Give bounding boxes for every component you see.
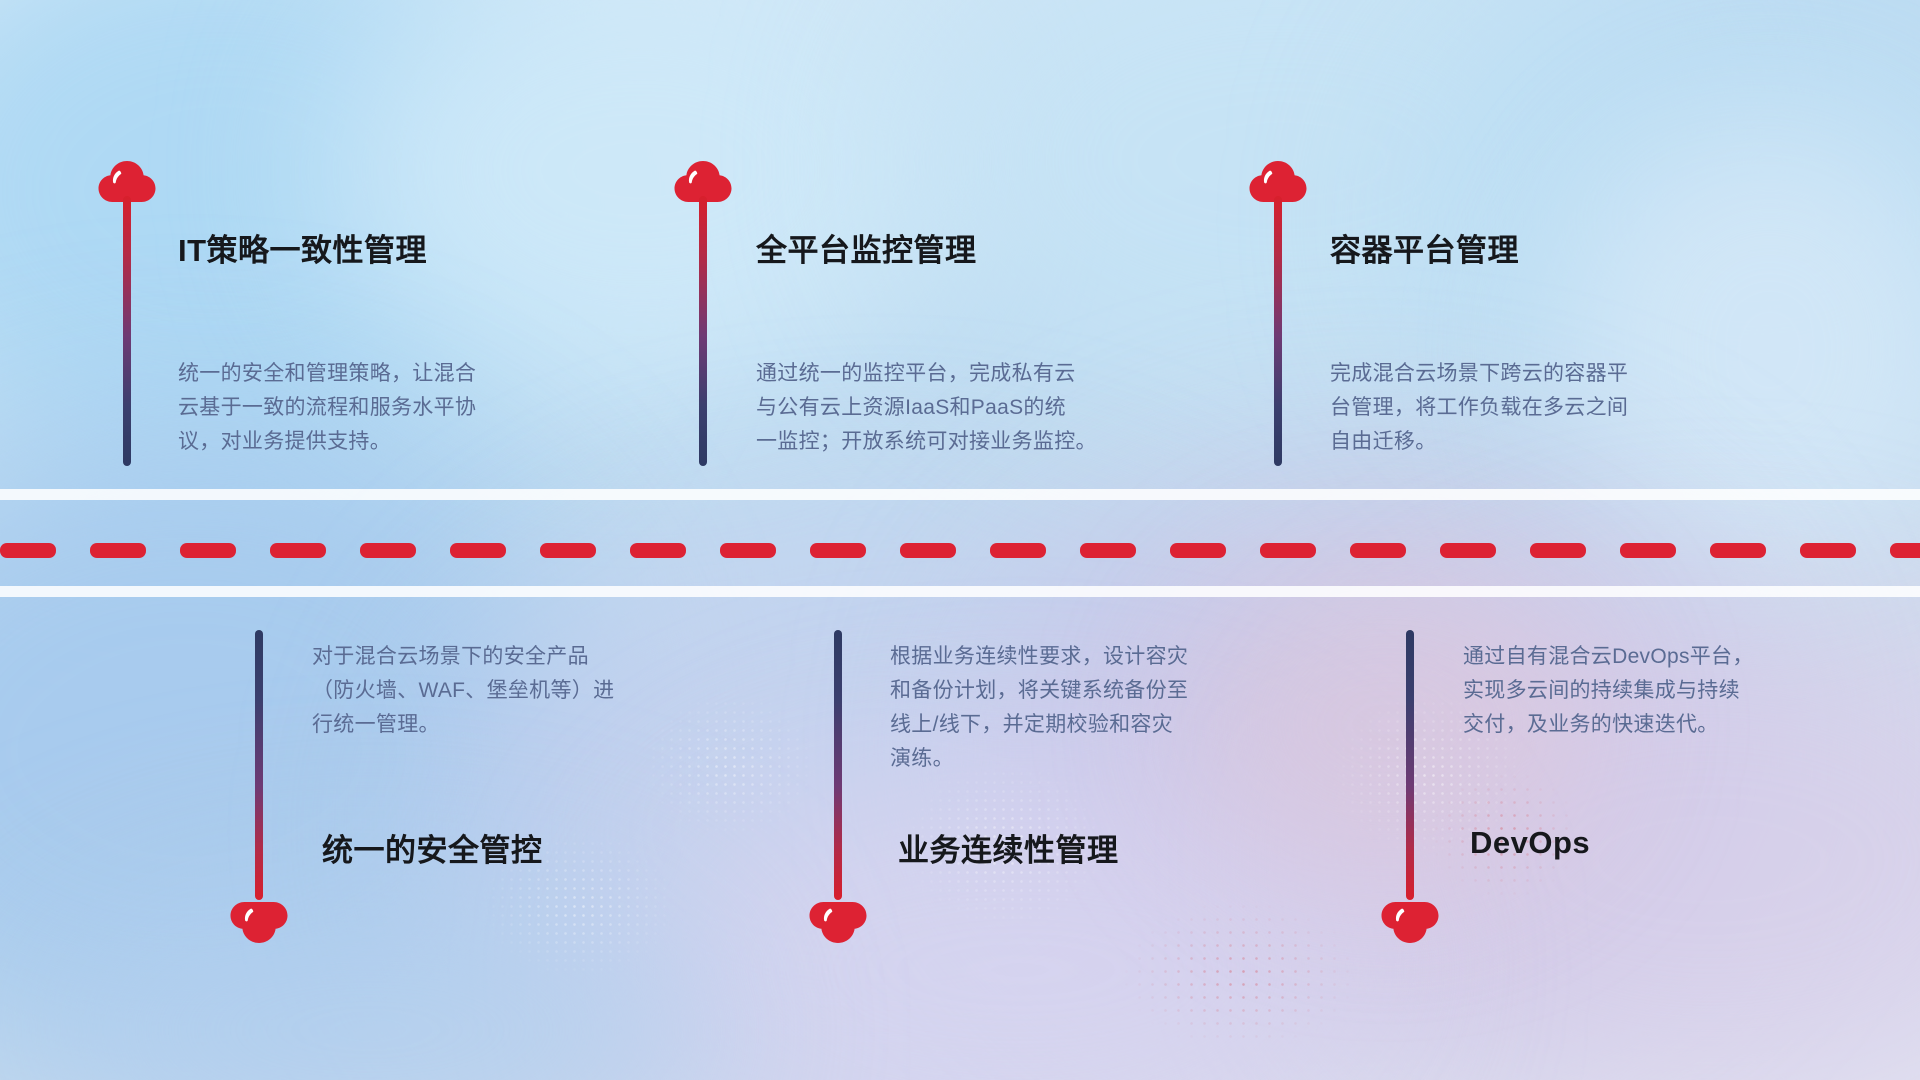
body-text: 通过自有混合云DevOps平台， 实现多云间的持续集成与持续 交付，及业务的快速… xyxy=(1463,640,1903,742)
cloud-pin-flipped-icon xyxy=(228,898,290,944)
dash-segment xyxy=(1800,543,1856,558)
dash-segment xyxy=(90,543,146,558)
dash-segment xyxy=(270,543,326,558)
dash-segment xyxy=(1260,543,1316,558)
card-body-top-2: 完成混合云场景下跨云的容器平 台管理，将工作负载在多云之间 自由迁移。 xyxy=(1330,357,1770,459)
card-body-bottom-0: 对于混合云场景下的安全产品 （防火墙、WAF、堡垒机等）进 行统一管理。 xyxy=(312,640,752,742)
body-text: 完成混合云场景下跨云的容器平 台管理，将工作负载在多云之间 自由迁移。 xyxy=(1330,357,1770,459)
body-text: 统一的安全和管理策略，让混合 云基于一致的流程和服务水平协 议，对业务提供支持。 xyxy=(178,357,618,459)
dash-segment xyxy=(1350,543,1406,558)
infographic-canvas: IT策略一致性管理 统一的安全和管理策略，让混合 云基于一致的流程和服务水平协 … xyxy=(0,0,1920,1080)
title-text: DevOps xyxy=(1470,825,1590,861)
card-body-top-0: 统一的安全和管理策略，让混合 云基于一致的流程和服务水平协 议，对业务提供支持。 xyxy=(178,357,618,459)
divider-bar-top xyxy=(0,489,1920,500)
dash-segment xyxy=(180,543,236,558)
card-title-top-1: 全平台监控管理 xyxy=(756,225,977,270)
dash-segment xyxy=(810,543,866,558)
body-text: 根据业务连续性要求，设计容灾 和备份计划，将关键系统备份至 线上/线下，并定期校… xyxy=(890,640,1350,776)
cloud-pin-flipped-icon xyxy=(807,898,869,944)
dash-segment xyxy=(1440,543,1496,558)
body-text: 对于混合云场景下的安全产品 （防火墙、WAF、堡垒机等）进 行统一管理。 xyxy=(312,640,752,742)
divider-bar-bottom xyxy=(0,586,1920,597)
dash-segment xyxy=(360,543,416,558)
connector-line xyxy=(1274,196,1282,466)
dash-segment xyxy=(630,543,686,558)
dash-segment xyxy=(1530,543,1586,558)
dash-segment xyxy=(1710,543,1766,558)
title-text: 全平台监控管理 xyxy=(756,225,977,270)
title-text: 统一的安全管控 xyxy=(322,825,543,870)
title-text: 业务连续性管理 xyxy=(898,825,1119,870)
dash-segment xyxy=(1620,543,1676,558)
title-text: 容器平台管理 xyxy=(1330,225,1519,270)
dash-segment xyxy=(1890,543,1920,558)
body-text: 通过统一的监控平台，完成私有云 与公有云上资源IaaS和PaaS的统 一监控；开… xyxy=(756,357,1216,459)
cloud-pin-flipped-icon xyxy=(1379,898,1441,944)
dash-segment xyxy=(720,543,776,558)
dashed-divider xyxy=(0,542,1920,558)
connector-line xyxy=(1406,630,1414,900)
card-body-bottom-2: 通过自有混合云DevOps平台， 实现多云间的持续集成与持续 交付，及业务的快速… xyxy=(1463,640,1903,742)
dash-segment xyxy=(900,543,956,558)
connector-line xyxy=(699,196,707,466)
connector-line xyxy=(123,196,131,466)
connector-line xyxy=(255,630,263,900)
title-text: IT策略一致性管理 xyxy=(178,225,427,270)
connector-line xyxy=(834,630,842,900)
card-body-top-1: 通过统一的监控平台，完成私有云 与公有云上资源IaaS和PaaS的统 一监控；开… xyxy=(756,357,1216,459)
card-title-bottom-1: 业务连续性管理 xyxy=(898,825,1119,870)
card-body-bottom-1: 根据业务连续性要求，设计容灾 和备份计划，将关键系统备份至 线上/线下，并定期校… xyxy=(890,640,1350,776)
dash-segment xyxy=(1080,543,1136,558)
dash-segment xyxy=(450,543,506,558)
dash-segment xyxy=(540,543,596,558)
card-title-top-0: IT策略一致性管理 xyxy=(178,225,427,270)
dash-segment xyxy=(990,543,1046,558)
card-title-bottom-2: DevOps xyxy=(1470,825,1590,861)
card-title-bottom-0: 统一的安全管控 xyxy=(322,825,543,870)
card-title-top-2: 容器平台管理 xyxy=(1330,225,1519,270)
dash-segment xyxy=(1170,543,1226,558)
dash-segment xyxy=(0,543,56,558)
